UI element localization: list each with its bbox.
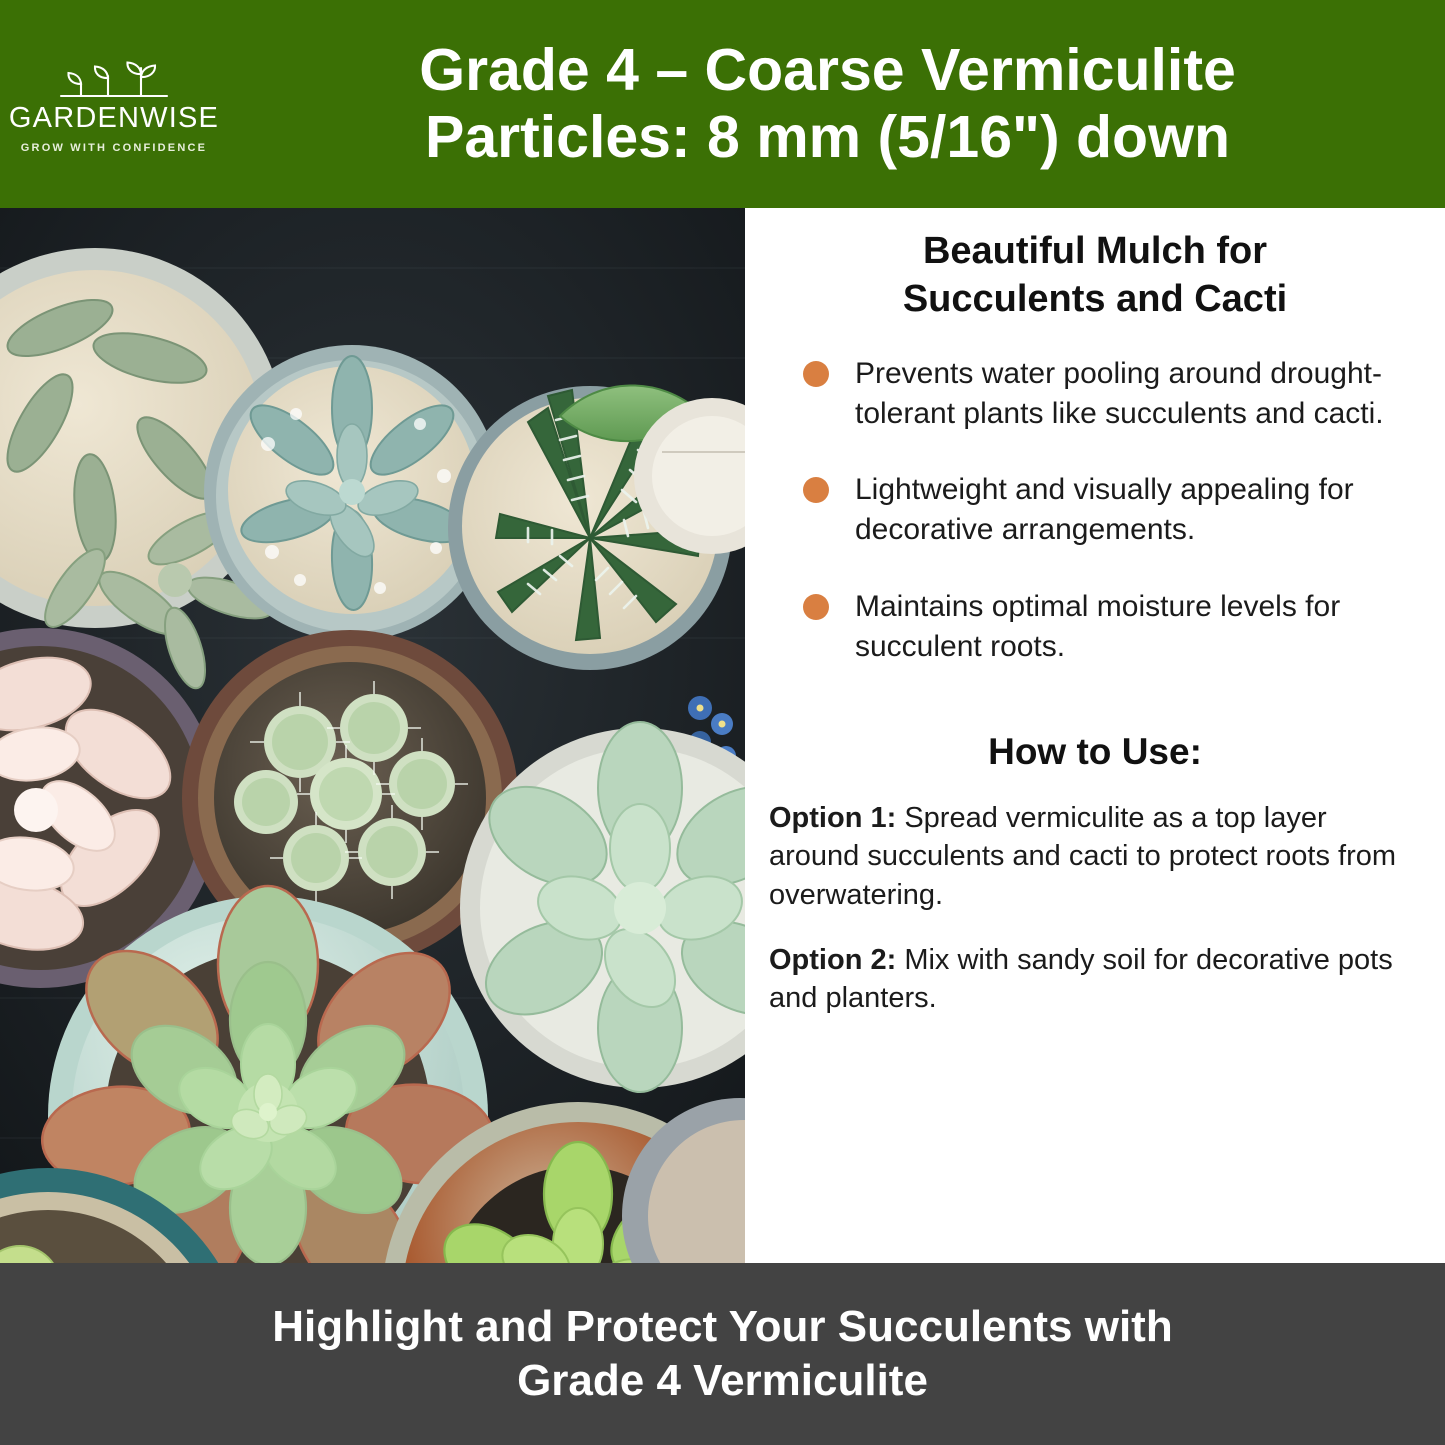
benefits-heading: Beautiful Mulch for Succulents and Cacti — [745, 208, 1445, 324]
three-sprouts-icon — [55, 58, 173, 102]
footer-line-2: Grade 4 Vermiculite — [517, 1354, 928, 1408]
how-to-use-option-1: Option 1: Spread vermiculite as a top la… — [745, 773, 1445, 915]
footer-banner: Highlight and Protect Your Succulents wi… — [0, 1263, 1445, 1445]
brand-logo: GARDENWISE GROW WITH CONFIDENCE — [0, 54, 228, 154]
how-to-use-heading: How to Use: — [745, 703, 1445, 773]
footer-line-1: Highlight and Protect Your Succulents wi… — [272, 1300, 1172, 1354]
list-item: Prevents water pooling around drought-to… — [803, 354, 1405, 434]
succulent-photo — [0, 208, 745, 1263]
option-2-label: Option 2: — [769, 944, 896, 976]
benefit-text: Lightweight and visually appealing for d… — [855, 470, 1405, 550]
brand-tagline: GROW WITH CONFIDENCE — [21, 142, 207, 154]
header-banner: GARDENWISE GROW WITH CONFIDENCE Grade 4 … — [0, 0, 1445, 208]
benefit-text: Prevents water pooling around drought-to… — [855, 354, 1405, 434]
benefit-text: Maintains optimal moisture levels for su… — [855, 587, 1405, 667]
benefits-heading-line-2: Succulents and Cacti — [903, 278, 1287, 320]
header-title: Grade 4 – Coarse Vermiculite Particles: … — [228, 37, 1445, 172]
benefits-list: Prevents water pooling around drought-to… — [745, 324, 1445, 667]
info-panel: Beautiful Mulch for Succulents and Cacti… — [745, 208, 1445, 1263]
product-infographic: GARDENWISE GROW WITH CONFIDENCE Grade 4 … — [0, 0, 1445, 1445]
how-to-use-option-2: Option 2: Mix with sandy soil for decora… — [745, 915, 1445, 1018]
bullet-dot-icon — [803, 361, 829, 387]
bullet-dot-icon — [803, 594, 829, 620]
brand-wordmark: GARDENWISE — [9, 104, 219, 133]
bullet-dot-icon — [803, 477, 829, 503]
list-item: Maintains optimal moisture levels for su… — [803, 587, 1405, 667]
list-item: Lightweight and visually appealing for d… — [803, 470, 1405, 550]
header-title-line-1: Grade 4 – Coarse Vermiculite — [419, 37, 1236, 104]
header-title-line-2: Particles: 8 mm (5/16") down — [425, 104, 1230, 171]
option-1-label: Option 1: — [769, 802, 896, 834]
succulent-photo-illustration — [0, 208, 745, 1263]
benefits-heading-line-1: Beautiful Mulch for — [923, 230, 1267, 272]
